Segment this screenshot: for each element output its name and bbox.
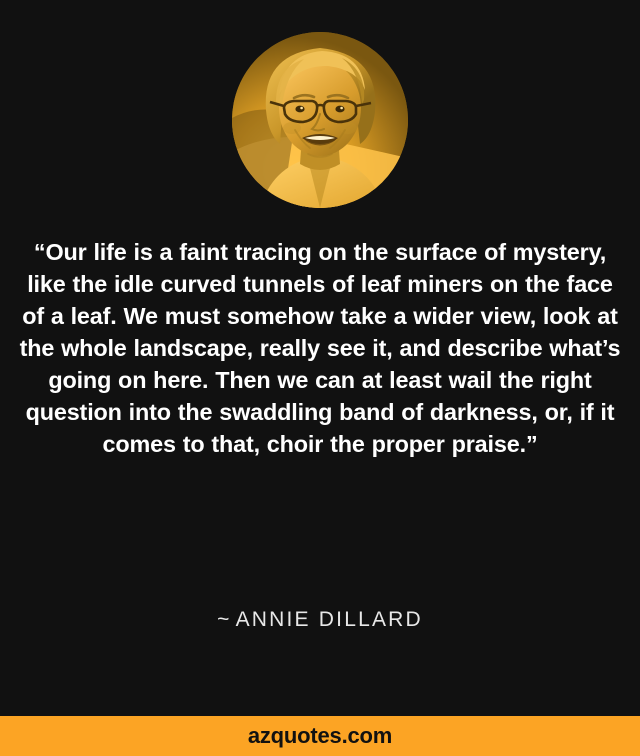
footer-bar: azquotes.com bbox=[0, 716, 640, 756]
footer-site-name[interactable]: azquotes.com bbox=[248, 723, 392, 749]
author-attribution: ~ANNIE DILLARD bbox=[0, 608, 640, 632]
author-portrait-photo bbox=[232, 32, 408, 208]
quote-text: “Our life is a faint tracing on the surf… bbox=[14, 236, 626, 460]
quote-block: “Our life is a faint tracing on the surf… bbox=[0, 236, 640, 460]
author-tilde: ~ bbox=[217, 608, 231, 631]
author-name: ANNIE DILLARD bbox=[236, 608, 423, 631]
quote-card: “Our life is a faint tracing on the surf… bbox=[0, 0, 640, 756]
author-portrait bbox=[232, 32, 408, 208]
